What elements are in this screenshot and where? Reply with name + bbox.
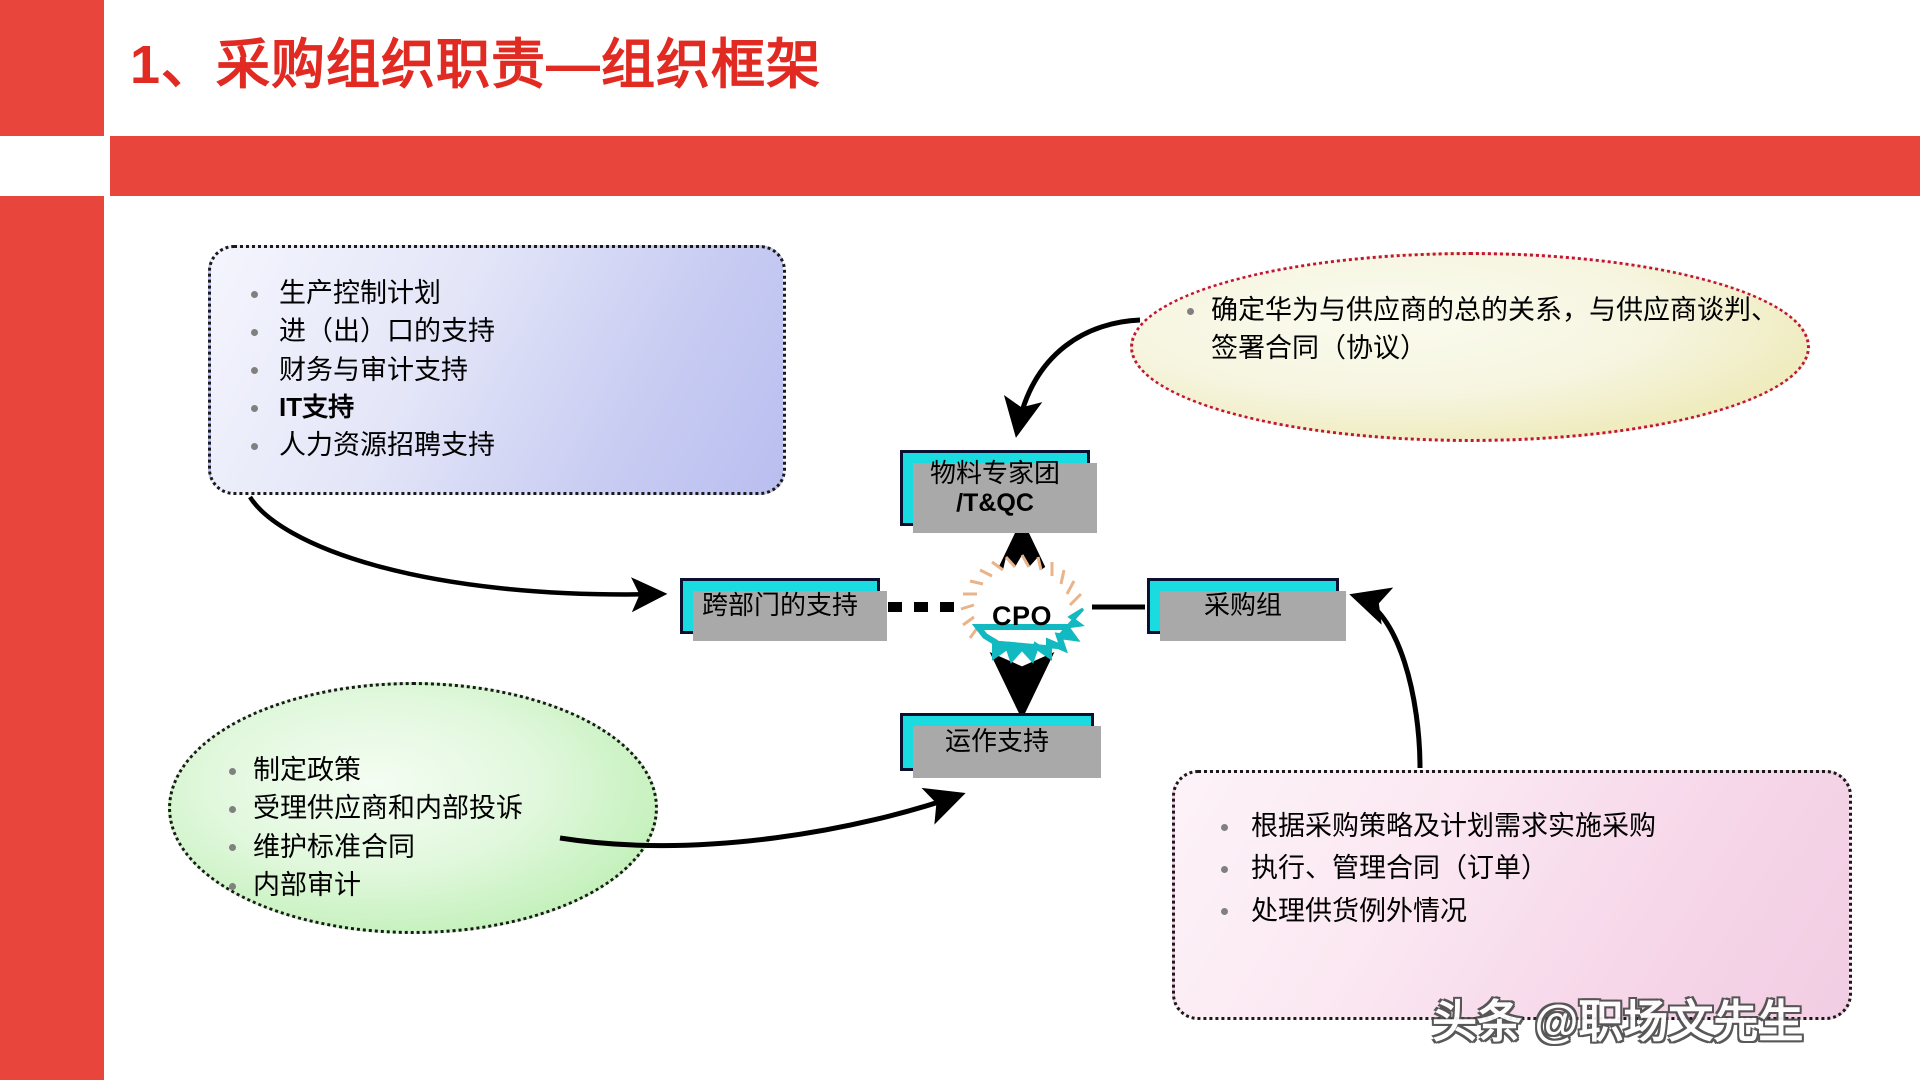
list-item: 维护标准合同: [223, 828, 623, 866]
header-red-band: [110, 136, 1920, 196]
policy-list: 制定政策 受理供应商和内部投诉 维护标准合同 内部审计: [223, 751, 623, 904]
shared-services-list: 生产控制计划 进（出）口的支持 财务与审计支持 IT支持 人力资源招聘支持: [245, 274, 749, 464]
cpo-role-list: 确定华为与供应商的总的关系，与供应商谈判、签署合同（协议）: [1181, 291, 1781, 368]
callout-procurement-duties: 根据采购策略及计划需求实施采购 执行、管理合同（订单） 处理供货例外情况: [1172, 770, 1852, 1020]
cpo-node[interactable]: CPO: [942, 555, 1102, 677]
procurement-duties-list: 根据采购策略及计划需求实施采购 执行、管理合同（订单） 处理供货例外情况: [1215, 807, 1809, 930]
list-item: 根据采购策略及计划需求实施采购: [1215, 807, 1809, 845]
arrow-shared-to-crossdept: [250, 497, 662, 594]
list-item: 内部审计: [223, 866, 623, 904]
ops-support-label: 运作支持: [945, 727, 1049, 756]
list-item: 制定政策: [223, 751, 623, 789]
list-item: 受理供应商和内部投诉: [223, 789, 623, 827]
page-title: 1、采购组织职责—组织框架: [130, 20, 1530, 110]
material-expert-line2: /T&QC: [956, 489, 1034, 517]
sidebar-white-notch: [0, 136, 104, 196]
list-item: 人力资源招聘支持: [245, 426, 749, 464]
node-operations-support[interactable]: 运作支持: [900, 713, 1094, 771]
node-purchasing-group[interactable]: 采购组: [1147, 578, 1339, 634]
arrow-role-to-material: [1017, 320, 1140, 432]
node-material-expert-team[interactable]: 物料专家团 /T&QC: [900, 450, 1090, 526]
list-item: 生产控制计划: [245, 274, 749, 312]
callout-cpo-role: 确定华为与供应商的总的关系，与供应商谈判、签署合同（协议）: [1130, 252, 1810, 442]
list-item: 财务与审计支持: [245, 351, 749, 389]
slide-canvas: 1、采购组织职责—组织框架: [0, 0, 1920, 1080]
callout-shared-services: 生产控制计划 进（出）口的支持 财务与审计支持 IT支持 人力资源招聘支持: [208, 245, 786, 495]
list-item: 执行、管理合同（订单）: [1215, 849, 1809, 887]
purchasing-group-label: 采购组: [1204, 591, 1282, 620]
cross-dept-label: 跨部门的支持: [702, 591, 858, 620]
list-item: 确定华为与供应商的总的关系，与供应商谈判、签署合同（协议）: [1181, 291, 1781, 368]
list-item: IT支持: [245, 389, 749, 426]
material-expert-line1: 物料专家团: [930, 459, 1060, 488]
watermark: 头条 @职场文先生: [1432, 985, 1803, 1050]
arrow-duties-to-purchasing: [1355, 596, 1420, 768]
list-item: 处理供货例外情况: [1215, 892, 1809, 930]
cpo-label: CPO: [942, 555, 1102, 677]
list-item: 进（出）口的支持: [245, 312, 749, 350]
callout-policy-support: 制定政策 受理供应商和内部投诉 维护标准合同 内部审计: [168, 682, 658, 934]
node-cross-department-support[interactable]: 跨部门的支持: [680, 578, 880, 634]
